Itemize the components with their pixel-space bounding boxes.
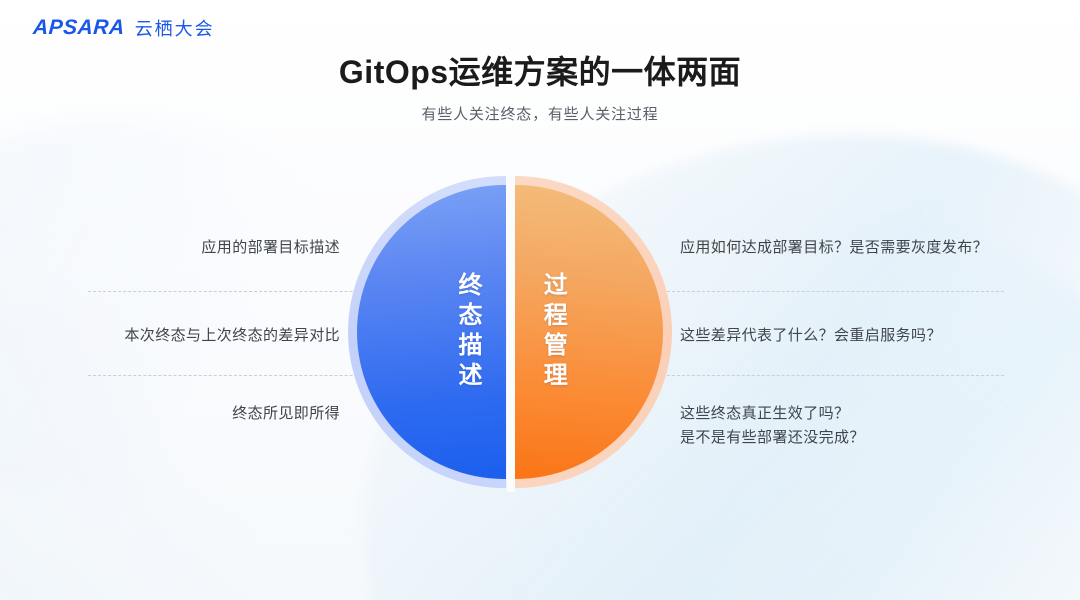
page-subtitle: 有些人关注终态，有些人关注过程	[0, 103, 1080, 124]
left-item-3: 终态所见即所得	[232, 402, 340, 426]
left-half-label: 终态描述	[455, 272, 480, 392]
left-item-2: 本次终态与上次终态的差异对比	[124, 324, 340, 348]
left-item-1: 应用的部署目标描述	[201, 236, 340, 260]
right-item-3: 这些终态真正生效了吗？ 是不是有些部署还没完成？	[680, 402, 865, 450]
circle-half-left: 终态描述	[348, 176, 506, 488]
split-circle-diagram: 终态描述 过程管理	[348, 176, 672, 488]
right-text-column: 应用如何达成部署目标？是否需要灰度发布？ 这些差异代表了什么？会重启服务吗？ 这…	[680, 176, 1020, 488]
right-item-2: 这些差异代表了什么？会重启服务吗？	[680, 324, 942, 348]
right-item-1: 应用如何达成部署目标？是否需要灰度发布？	[680, 236, 988, 260]
page-title: GitOps运维方案的一体两面	[0, 47, 1080, 93]
apsara-wordmark: APSARA	[32, 16, 125, 40]
left-half-fill	[357, 185, 506, 479]
slide-canvas: APSARA 云栖大会 GitOps运维方案的一体两面 有些人关注终态，有些人关…	[0, 0, 1080, 600]
circle-half-right: 过程管理	[514, 176, 672, 488]
brand-name-cn: 云栖大会	[135, 15, 215, 41]
left-text-column: 应用的部署目标描述 本次终态与上次终态的差异对比 终态所见即所得	[60, 176, 340, 488]
brand-logo: APSARA 云栖大会	[33, 15, 215, 41]
right-half-label: 过程管理	[540, 272, 565, 392]
circle-center-gap	[507, 172, 515, 492]
right-half-fill	[514, 185, 663, 479]
